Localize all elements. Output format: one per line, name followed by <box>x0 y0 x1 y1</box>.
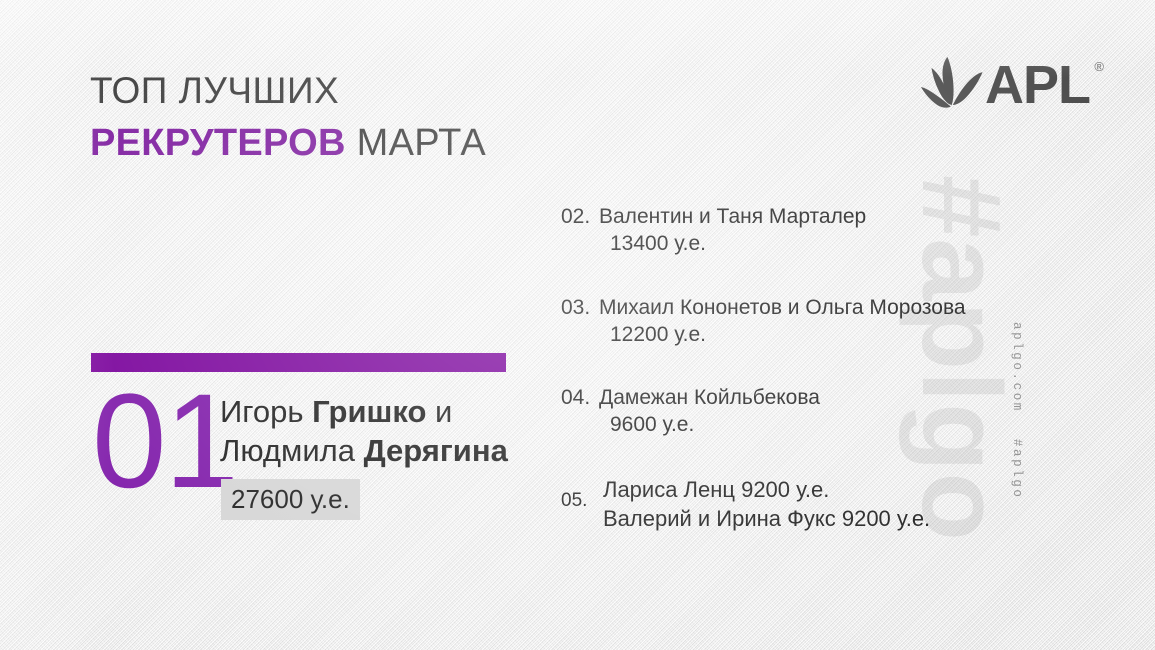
apl-leaves-icon <box>921 56 983 114</box>
title-line-2: РЕКРУТЕРОВ МАРТА <box>90 124 486 162</box>
list-item-amount: 13400 у.е. <box>599 230 866 257</box>
watermark-small-url: aplgo.com#aplgo <box>1010 322 1024 500</box>
list-item-body: Михаил Кононетов и Ольга Морозова 12200 … <box>599 294 966 349</box>
apl-logo: APL® <box>921 56 1090 114</box>
runners-up-list: 02. Валентин и Таня Марталер 13400 у.е. … <box>561 203 991 533</box>
list-item-number: 04. <box>561 384 599 411</box>
winner-firstname-1: Игорь <box>220 394 312 429</box>
winner-conjunction: и <box>426 394 452 429</box>
winner-name-line-2: Людмила Дерягина <box>220 431 508 470</box>
list-item: 04. Дамежан Койльбекова 9600 у.е. <box>561 384 991 439</box>
winner-names: Игорь Гришко и Людмила Дерягина <box>220 392 508 471</box>
slide-canvas: #aplgo aplgo.com#aplgo ТОП ЛУЧШИХ РЕКРУТ… <box>0 0 1155 650</box>
list-item-number: 05. <box>561 475 603 514</box>
list-item-number: 03. <box>561 294 599 321</box>
winner-firstname-2: Людмила <box>220 433 364 468</box>
registered-trademark-icon: ® <box>1094 60 1103 73</box>
list-item: 05. Лариса Ленц 9200 у.е. Валерий и Ирин… <box>561 475 991 534</box>
list-item-name-line-1: Лариса Ленц 9200 у.е. <box>603 475 930 504</box>
watermark-site: aplgo.com <box>1010 322 1024 413</box>
list-item-name: Валентин и Таня Марталер <box>599 205 866 228</box>
list-item-body: Лариса Ленц 9200 у.е. Валерий и Ирина Фу… <box>603 475 930 534</box>
list-item-name: Дамежан Койльбекова <box>599 386 820 409</box>
apl-wordmark: APL® <box>985 58 1090 112</box>
page-title: ТОП ЛУЧШИХ РЕКРУТЕРОВ МАРТА <box>90 72 486 162</box>
winner-name-line-1: Игорь Гришко и <box>220 392 508 431</box>
watermark-hashtag: #aplgo <box>1010 439 1024 500</box>
list-item-body: Дамежан Койльбекова 9600 у.е. <box>599 384 820 439</box>
winner-rank-number: 01 <box>92 375 237 509</box>
winner-amount-badge: 27600 у.е. <box>221 479 360 520</box>
winner-surname-1: Гришко <box>312 394 426 429</box>
list-item: 02. Валентин и Таня Марталер 13400 у.е. <box>561 203 991 258</box>
apl-wordmark-text: APL <box>985 55 1090 115</box>
list-item: 03. Михаил Кононетов и Ольга Морозова 12… <box>561 294 991 349</box>
title-accent-word: РЕКРУТЕРОВ <box>90 122 346 164</box>
winner-surname-2: Дерягина <box>364 433 508 468</box>
list-item-name: Михаил Кононетов и Ольга Морозова <box>599 296 966 319</box>
list-item-number: 02. <box>561 203 599 230</box>
list-item-name-line-2: Валерий и Ирина Фукс 9200 у.е. <box>603 504 930 533</box>
list-item-amount: 12200 у.е. <box>599 321 966 348</box>
title-line-1: ТОП ЛУЧШИХ <box>90 72 486 109</box>
list-item-amount: 9600 у.е. <box>599 411 820 438</box>
title-plain-word: МАРТА <box>357 122 486 164</box>
list-item-body: Валентин и Таня Марталер 13400 у.е. <box>599 203 866 258</box>
